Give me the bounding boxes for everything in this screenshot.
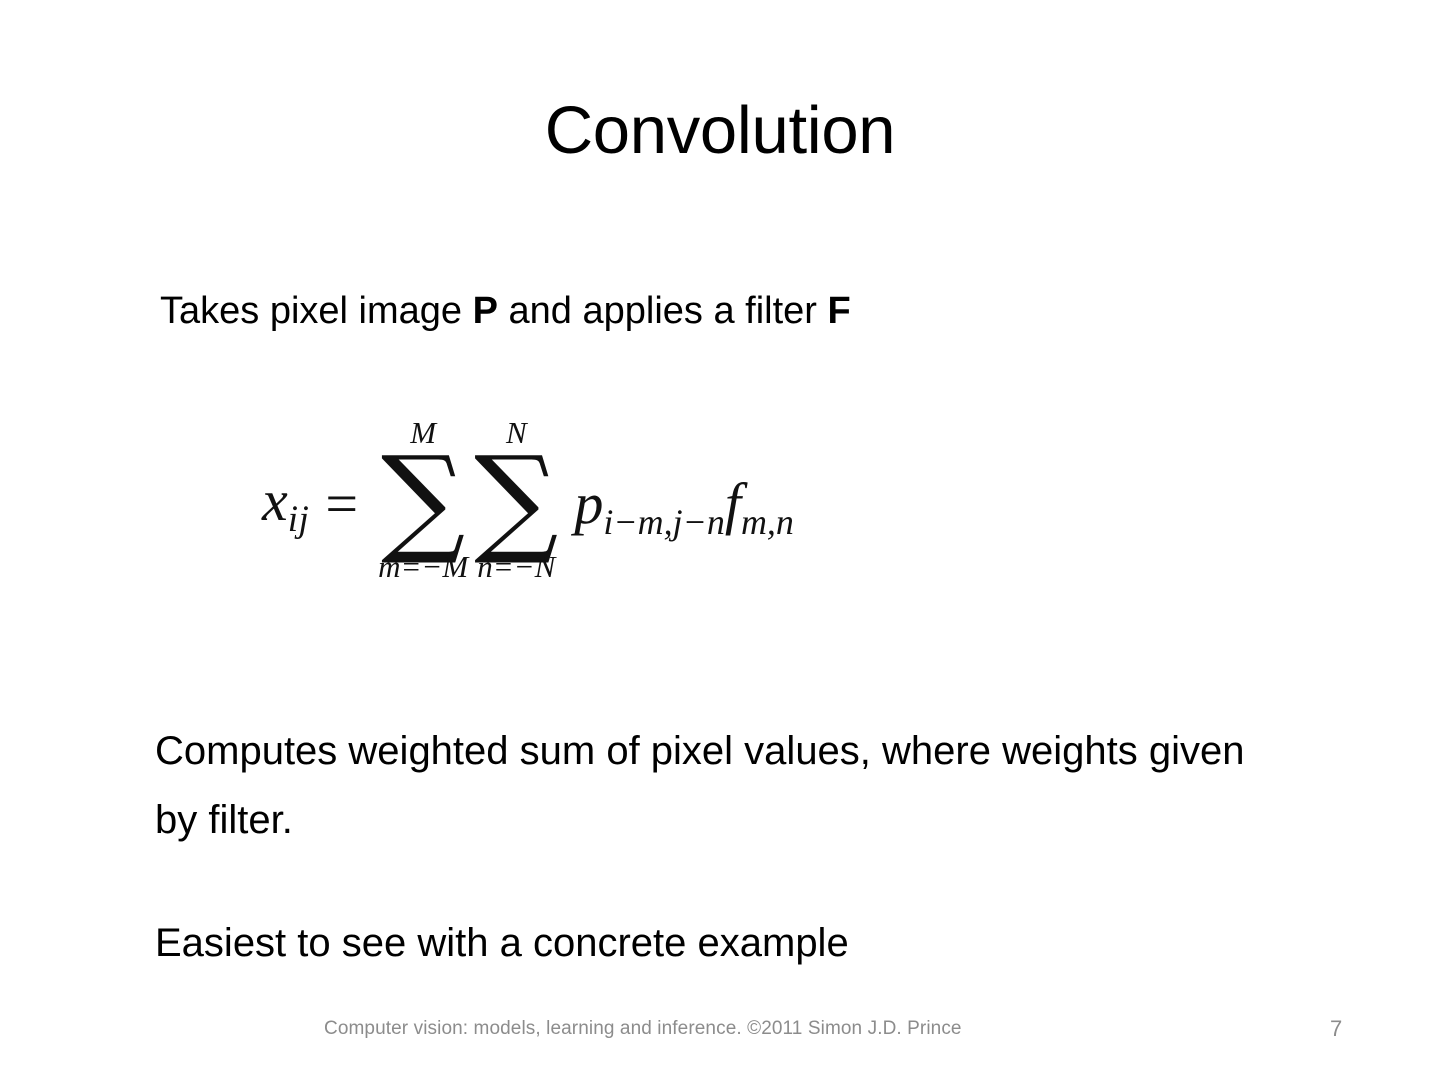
paragraph-easiest: Easiest to see with a concrete example (155, 917, 1305, 969)
equation-lhs: xij (262, 472, 309, 538)
page-number: 7 (1330, 1016, 1370, 1042)
summation-over-m: M ∑ m=−M (378, 417, 468, 581)
convolution-equation: xij = M ∑ m=−M N ∑ n=−N pi−m,j−nfm,n (262, 392, 1262, 607)
sum-n-lower-limit: n=−N (477, 551, 555, 582)
sigma-icon: ∑ (381, 452, 465, 546)
variable-p-subscript: i−m,j−n (603, 501, 724, 541)
symbol-f: F (827, 290, 850, 332)
slide-canvas: Convolution Takes pixel image P and appl… (0, 0, 1440, 1080)
equation-row: xij = M ∑ m=−M N ∑ n=−N pi−m,j−nfm,n (262, 392, 1262, 607)
footer-attribution: Computer vision: models, learning and in… (324, 1018, 962, 1040)
sigma-icon: ∑ (474, 452, 558, 546)
lead-statement: Takes pixel image P and applies a filter… (160, 288, 851, 336)
lead-middle-text: and applies a filter (498, 290, 828, 332)
page-title: Convolution (0, 92, 1440, 169)
lead-prefix-text: Takes pixel image (160, 290, 473, 332)
variable-p: p (574, 471, 603, 536)
variable-x-subscript: ij (288, 500, 310, 541)
variable-x: x (262, 468, 288, 533)
paragraph-computes: Computes weighted sum of pixel values, w… (155, 717, 1265, 855)
equation-rhs: pi−m,j−nfm,n (574, 475, 794, 541)
sum-m-lower-limit: m=−M (378, 551, 468, 582)
equals-sign: = (309, 470, 378, 537)
summation-over-n: N ∑ n=−N (474, 417, 558, 581)
variable-f: f (725, 471, 741, 536)
symbol-p: P (473, 290, 498, 332)
variable-f-subscript: m,n (741, 501, 794, 541)
